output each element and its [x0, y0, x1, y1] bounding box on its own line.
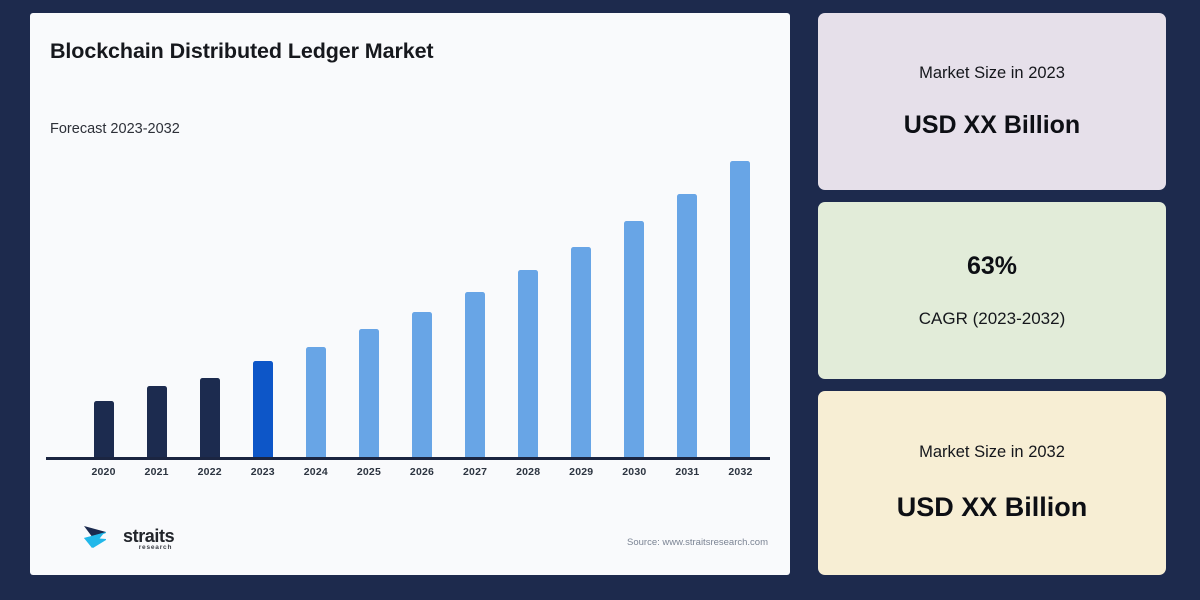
bar-slot — [502, 153, 555, 458]
bar-2023 — [253, 361, 273, 458]
x-label-2021: 2021 — [130, 466, 183, 478]
arrow-logo-icon — [80, 518, 116, 554]
straits-research-logo: straits research — [80, 518, 174, 554]
bar-2025 — [359, 329, 379, 458]
x-label-2023: 2023 — [236, 466, 289, 478]
bar-2030 — [624, 221, 644, 458]
x-label-2029: 2029 — [555, 466, 608, 478]
bar-slot — [661, 153, 714, 458]
bar-2031 — [677, 194, 697, 458]
bar-2021 — [147, 386, 167, 458]
x-label-2031: 2031 — [661, 466, 714, 478]
bar-2026 — [412, 312, 432, 458]
bar-series — [77, 153, 767, 458]
chart-subtitle: Forecast 2023-2032 — [50, 121, 180, 137]
bar-2024 — [306, 347, 326, 458]
bar-slot — [236, 153, 289, 458]
infographic-root: Blockchain Distributed Ledger Market For… — [0, 0, 1200, 600]
bar-slot — [342, 153, 395, 458]
bar-slot — [395, 153, 448, 458]
stat-card-value: 63% — [967, 252, 1017, 281]
page-title: Blockchain Distributed Ledger Market — [50, 39, 433, 64]
logo-text: straits research — [123, 527, 174, 545]
logo-wordmark: straits — [123, 527, 174, 545]
bar-slot — [714, 153, 767, 458]
x-label-2025: 2025 — [342, 466, 395, 478]
bar-slot — [77, 153, 130, 458]
stat-cards: Market Size in 2023 USD XX Billion 63% C… — [818, 13, 1166, 575]
x-label-2028: 2028 — [502, 466, 555, 478]
bar-chart-plot — [50, 153, 770, 458]
stat-card-value: USD XX Billion — [904, 111, 1080, 140]
logo-subtext: research — [139, 544, 173, 551]
bar-2032 — [730, 161, 750, 458]
stat-card-market-size-2023: Market Size in 2023 USD XX Billion — [818, 13, 1166, 190]
bar-2029 — [571, 247, 591, 458]
bar-2022 — [200, 378, 220, 458]
x-axis-labels: 2020202120222023202420252026202720282029… — [77, 466, 767, 478]
bar-slot — [130, 153, 183, 458]
stat-card-label: Market Size in 2023 — [919, 64, 1065, 83]
stat-card-cagr: 63% CAGR (2023-2032) — [818, 202, 1166, 379]
x-label-2020: 2020 — [77, 466, 130, 478]
bar-2028 — [518, 270, 538, 458]
bar-slot — [449, 153, 502, 458]
x-axis-line — [46, 457, 770, 460]
bar-2027 — [465, 292, 485, 458]
chart-panel: Blockchain Distributed Ledger Market For… — [30, 13, 790, 575]
bar-2020 — [94, 401, 114, 458]
bar-slot — [555, 153, 608, 458]
bar-slot — [608, 153, 661, 458]
x-label-2022: 2022 — [183, 466, 236, 478]
source-attribution: Source: www.straitsresearch.com — [627, 537, 768, 548]
stat-card-label: CAGR (2023-2032) — [919, 309, 1065, 329]
x-label-2032: 2032 — [714, 466, 767, 478]
x-label-2030: 2030 — [608, 466, 661, 478]
x-label-2026: 2026 — [395, 466, 448, 478]
bar-slot — [289, 153, 342, 458]
stat-card-value: USD XX Billion — [897, 492, 1088, 523]
bar-slot — [183, 153, 236, 458]
stat-card-market-size-2032: Market Size in 2032 USD XX Billion — [818, 391, 1166, 575]
stat-card-label: Market Size in 2032 — [919, 443, 1065, 462]
x-label-2024: 2024 — [289, 466, 342, 478]
x-label-2027: 2027 — [449, 466, 502, 478]
